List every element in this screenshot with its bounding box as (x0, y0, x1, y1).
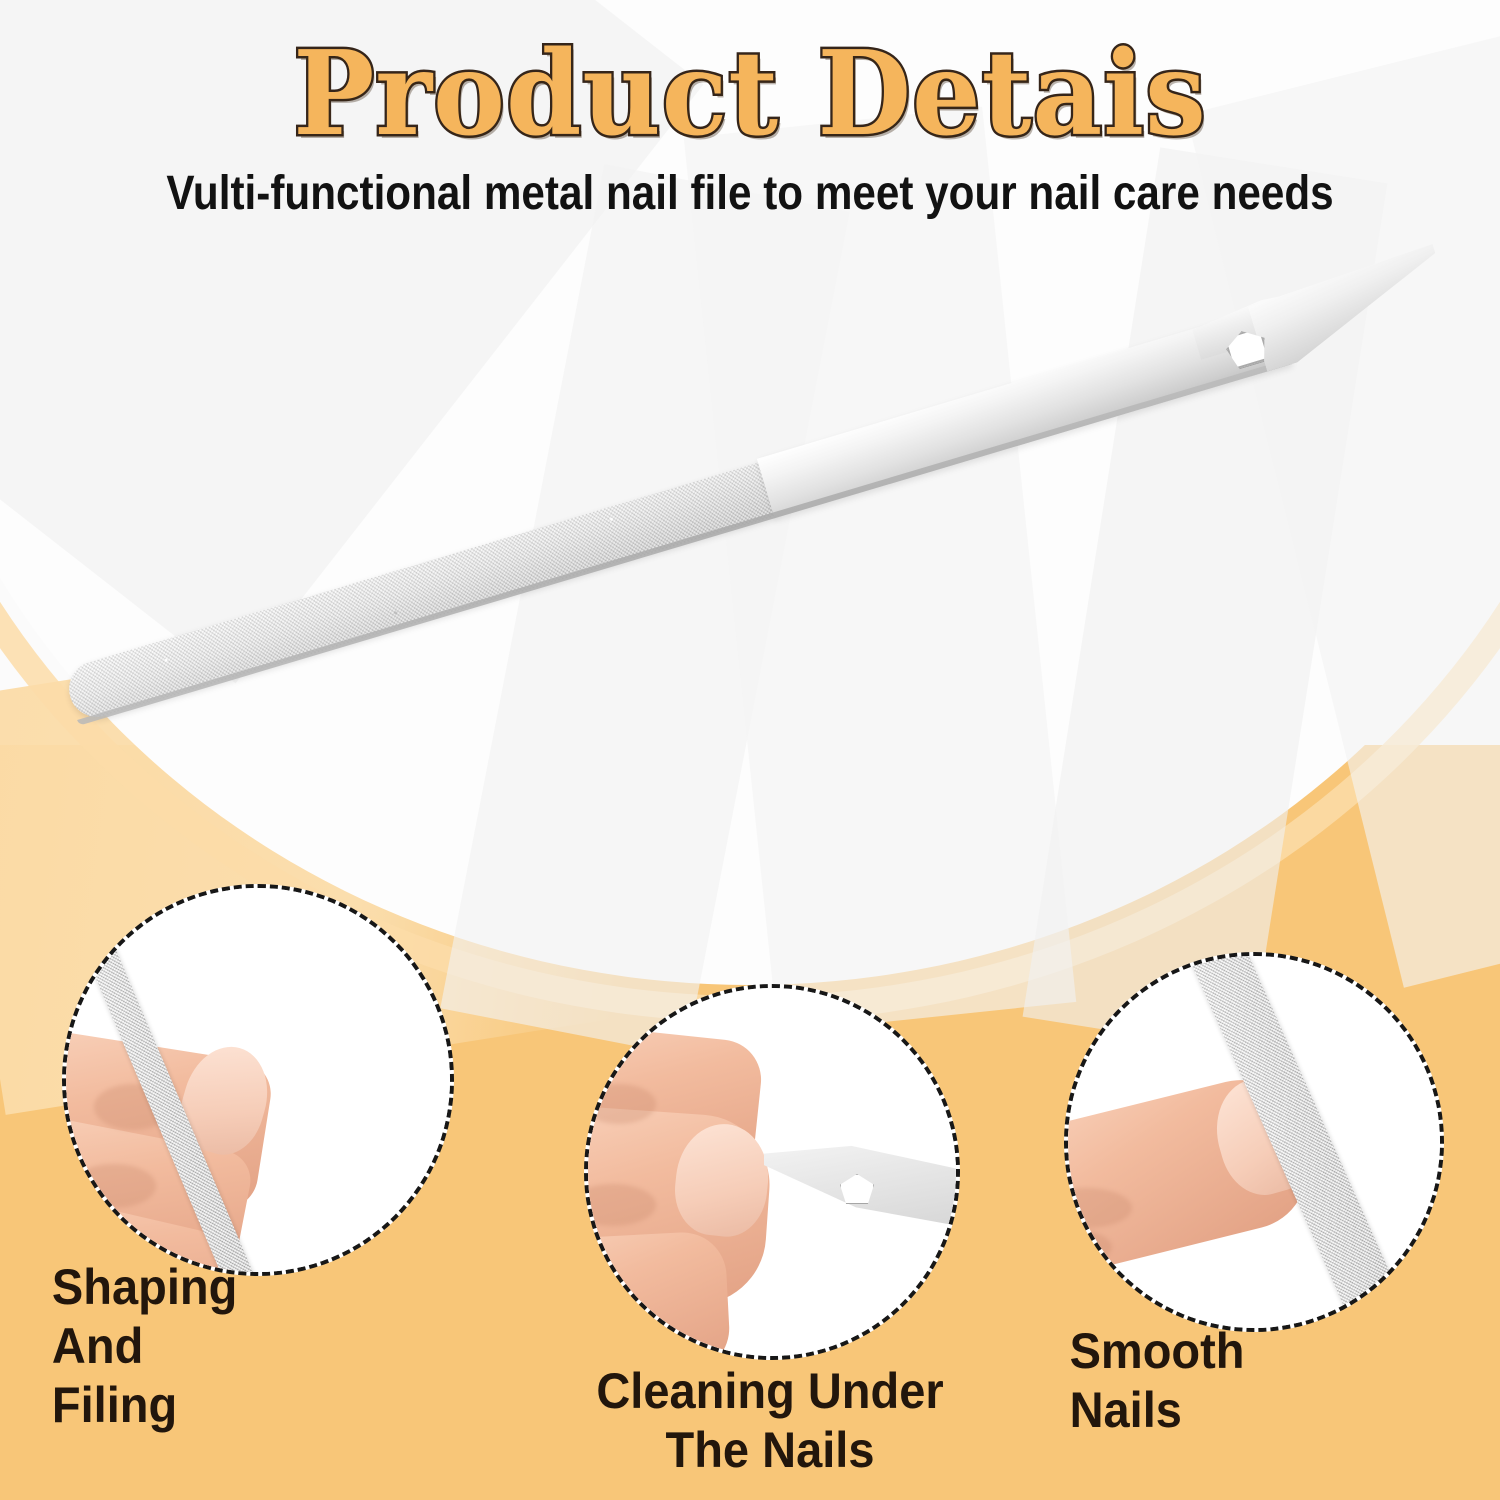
feature-photo-circle-3 (1064, 952, 1444, 1332)
photo-thumb-with-cleaner-tip (588, 988, 956, 1356)
feature-section: Shaping And Filing Cleaning Under The Na… (0, 0, 1500, 1500)
feature-photo-circle-1 (62, 884, 454, 1276)
hand-lower-finger (584, 1230, 731, 1360)
knuckle-crease-3 (584, 1084, 656, 1124)
feature-caption-1: Shaping And Filing (52, 1258, 237, 1435)
infographic-canvas: Product Detais Vulti-functional metal na… (0, 0, 1500, 1500)
feature-caption-3: Smooth Nails (1070, 1322, 1245, 1440)
photo-hand-holding-nail-file (66, 888, 450, 1272)
feature-caption-2: Cleaning Under The Nails (554, 1362, 986, 1480)
feature-photo-circle-2 (584, 984, 960, 1360)
photo-finger-with-textured-file (1068, 956, 1440, 1328)
knuckle-crease-2 (72, 1164, 156, 1208)
